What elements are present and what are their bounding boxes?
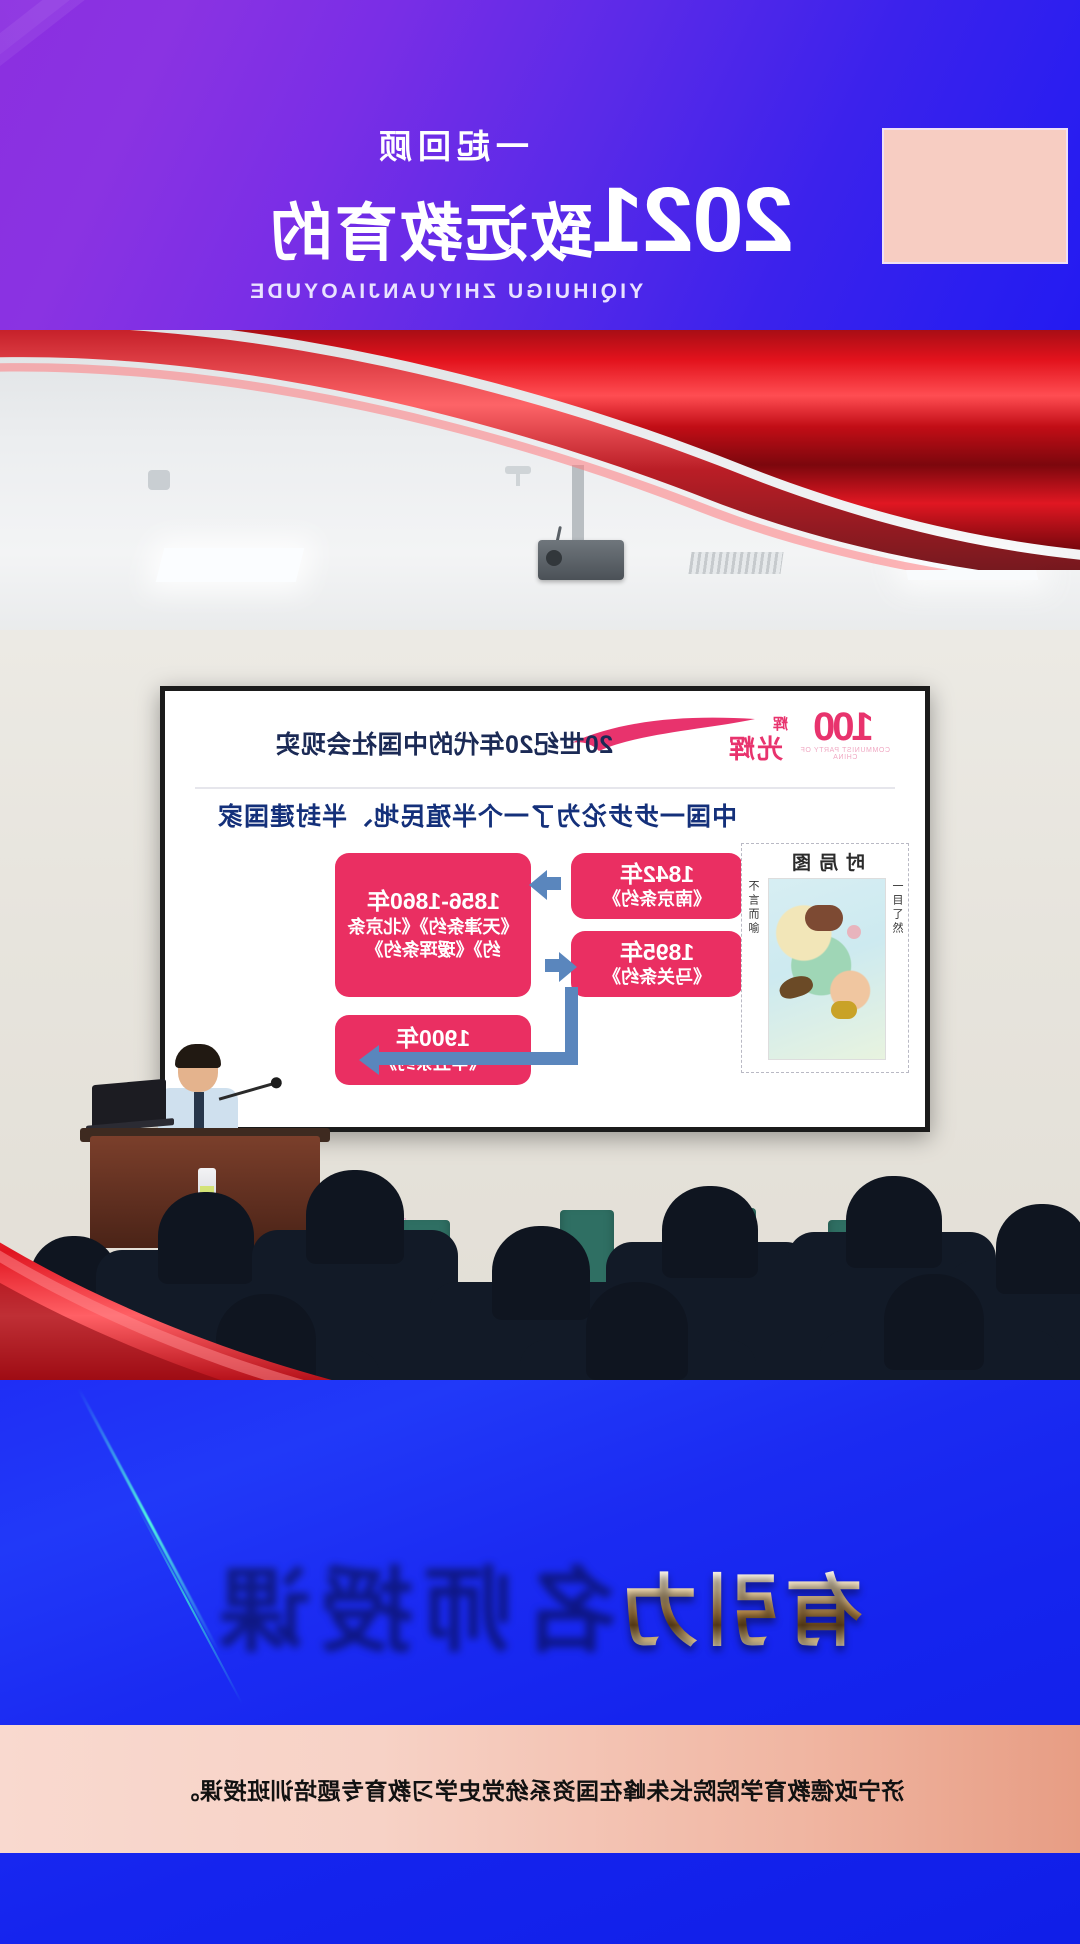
audience-figure <box>884 1274 984 1370</box>
header-title-cn: 致远教育的 <box>268 199 593 269</box>
audience-figure <box>996 1204 1080 1294</box>
poster-root: 一起回顾 2021致远教育的 YIQIHUIGU ZHIYUANJIAOYUDE <box>0 0 1080 1944</box>
timeline-box: 1842年 《南京条约》 <box>571 853 743 919</box>
historical-cartoon: 时局图 一目了然 不言而喻 <box>741 843 909 1073</box>
audience-figure <box>158 1192 254 1284</box>
cartoon-map-art <box>768 878 886 1060</box>
smoke-detector-icon <box>148 470 170 490</box>
slide-divider <box>195 787 895 789</box>
ceiling-vent <box>688 552 783 574</box>
slide-title: 20世纪20年代的中国社会现实 <box>275 725 613 761</box>
conference-photo: 辉 100 COMMUNIST PARTY OF CHINA 光辉 <box>0 330 1080 1390</box>
speaker-figure <box>160 1048 234 1140</box>
audience-figure <box>216 1294 316 1390</box>
logo-100-glyph: 100 <box>787 707 903 747</box>
audience-figure <box>306 1170 404 1264</box>
arrow-head-icon <box>529 870 547 900</box>
projection-screen: 辉 100 COMMUNIST PARTY OF CHINA 光辉 <box>160 686 930 1132</box>
ceiling-light <box>156 548 304 582</box>
slide-content: 辉 100 COMMUNIST PARTY OF CHINA 光辉 <box>165 691 925 1127</box>
footer-panel: 有引力名师授课 济宁政德教育学院院长朱峰在国资系统党史学习教育专题培训班授课。 <box>0 1380 1080 1944</box>
anniversary-logo: 辉 100 COMMUNIST PARTY OF CHINA <box>787 707 903 765</box>
ceiling-light <box>902 550 1038 580</box>
caption-text: 济宁政德教育学院院长朱峰在国资系统党史学习教育专题培训班授课。 <box>0 1772 1080 1806</box>
timeline-box: 1856-1860年 《天津条约》《北京条约》《瑷珲条约》 <box>335 853 531 997</box>
gold-headline-part2: 有引力 <box>617 1567 863 1655</box>
sun-figure-icon <box>847 925 861 939</box>
gold-headline: 有引力名师授课 <box>0 1532 1080 1665</box>
arrow-head-icon <box>559 952 577 982</box>
header-pinyin: YIQIHUIGU ZHIYUANJIAOYUDE <box>0 280 1080 304</box>
bear-figure-icon <box>805 905 843 931</box>
gold-headline-part1: 名师授课 <box>209 1556 617 1658</box>
projector-icon <box>538 540 624 580</box>
arrow-icon <box>377 1052 577 1065</box>
header-streak <box>0 0 938 3</box>
slide-subtitle: 中国一步步沦为了一个半殖民地、半封建国家 <box>217 797 737 833</box>
logo-en-text: COMMUNIST PARTY OF CHINA <box>787 747 903 761</box>
audience-figure <box>846 1176 942 1268</box>
header-year: 2021 <box>593 169 794 271</box>
cartoon-right-text: 一目了然 <box>889 880 905 936</box>
cartoon-left-text: 不言而喻 <box>745 880 761 936</box>
audience-figure <box>492 1226 590 1320</box>
sprinkler-icon <box>505 466 531 474</box>
frog-figure-icon <box>831 1001 857 1019</box>
laptop-icon <box>92 1079 166 1129</box>
header-pink-placeholder <box>882 128 1068 264</box>
arrow-head-icon <box>359 1045 379 1075</box>
header-streak <box>0 0 823 84</box>
audience-figure <box>662 1186 758 1278</box>
slide-header: 辉 100 COMMUNIST PARTY OF CHINA 光辉 <box>179 701 911 779</box>
audience-figure <box>586 1282 688 1380</box>
timeline-box: 1895年 《马关条约》 <box>571 931 743 997</box>
arrow-icon <box>545 877 561 890</box>
ceiling <box>0 330 1080 650</box>
cartoon-title: 时局图 <box>746 848 904 875</box>
eagle-figure-icon <box>777 972 816 1002</box>
